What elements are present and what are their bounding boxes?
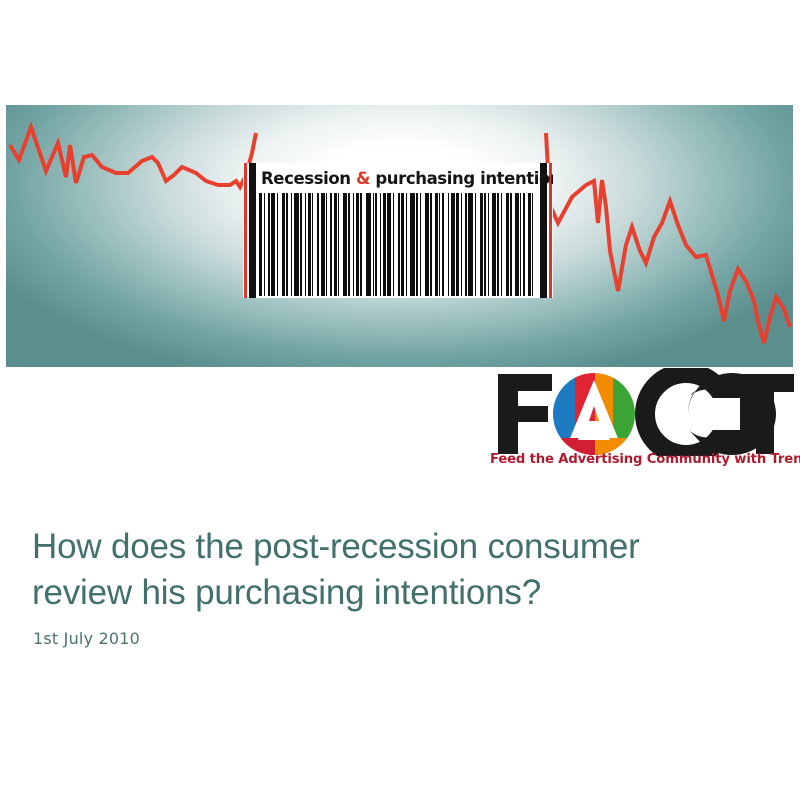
barcode-title-suffix: purchasing intention xyxy=(370,169,553,188)
barcode-bar xyxy=(271,193,275,296)
barcode-title-prefix: Recession xyxy=(261,169,356,188)
barcode-bar xyxy=(532,193,533,296)
barcode-bar xyxy=(259,193,262,296)
barcode-bar xyxy=(312,193,313,296)
barcode-bar xyxy=(456,193,459,296)
barcode-bar xyxy=(291,193,292,296)
page-title-line-1: How does the post-recession consumer xyxy=(32,524,762,570)
barcode-bar xyxy=(360,193,362,296)
barcode-bar xyxy=(380,193,381,296)
barcode-bar xyxy=(488,193,489,296)
barcode-bar xyxy=(398,193,400,296)
barcode-bar xyxy=(305,193,306,296)
barcode-bar xyxy=(528,193,531,296)
trend-line-right xyxy=(546,133,790,343)
barcode-bar xyxy=(451,193,455,296)
barcode-title-ampersand: & xyxy=(356,169,370,188)
barcode-bar xyxy=(506,193,509,296)
page-title-line-2: review his purchasing intentions? xyxy=(32,570,762,616)
barcode-bar xyxy=(308,193,311,296)
barcode-bar xyxy=(393,193,394,296)
barcode-bar xyxy=(410,193,415,296)
barcode-bar xyxy=(461,193,462,296)
fact-letter-a-circle xyxy=(553,373,639,456)
barcode-bar xyxy=(268,193,270,296)
barcode-bar xyxy=(277,193,278,296)
barcode-bar xyxy=(468,193,473,296)
barcode-bars xyxy=(259,193,537,296)
barcode-bar xyxy=(373,193,374,296)
barcode-bar xyxy=(383,193,386,296)
page-date: 1st July 2010 xyxy=(33,629,140,648)
barcode-bar xyxy=(425,193,429,296)
barcode-title-text: Recession & purchasing intention xyxy=(261,165,535,192)
barcode-bar xyxy=(416,193,418,296)
fact-letter-f xyxy=(498,374,552,454)
barcode-bar xyxy=(294,193,299,296)
barcode-bar xyxy=(442,193,444,296)
barcode-bar xyxy=(387,193,391,296)
barcode-bar xyxy=(515,193,519,296)
fact-logo: Feed the Advertising Community with Tren… xyxy=(490,368,795,478)
barcode-bar xyxy=(430,193,432,296)
barcode-bar xyxy=(420,193,421,296)
barcode-graphic: Recession & purchasing intention xyxy=(243,163,553,298)
barcode-bar xyxy=(321,193,325,296)
barcode-bar xyxy=(480,193,483,296)
barcode-bar xyxy=(338,193,339,296)
barcode-bar xyxy=(286,193,288,296)
barcode-bar xyxy=(435,193,438,296)
trend-line-left xyxy=(10,127,256,187)
barcode-bar xyxy=(343,193,347,296)
barcode-bar xyxy=(492,193,496,296)
barcode-bar xyxy=(375,193,377,296)
barcode-bar xyxy=(520,193,521,296)
barcode-bar xyxy=(366,193,371,296)
barcode-bar xyxy=(282,193,285,296)
fact-wordmark xyxy=(490,368,795,456)
letter-a-lower-knockout xyxy=(578,430,610,440)
barcode-bar xyxy=(523,193,525,296)
barcode-bar xyxy=(334,193,337,296)
barcode-bar xyxy=(484,193,486,296)
barcode-bar xyxy=(475,193,476,296)
barcode-edge-bar-left xyxy=(249,163,256,298)
barcode-bar xyxy=(326,193,327,296)
barcode-bar xyxy=(264,193,265,296)
barcode-bar xyxy=(330,193,332,296)
barcode-bar xyxy=(439,193,440,296)
barcode-bar xyxy=(353,193,354,296)
barcode-bar xyxy=(317,193,319,296)
barcode-bar xyxy=(448,193,449,296)
fact-letter-c-aperture xyxy=(698,398,740,430)
fact-tagline: Feed the Advertising Community with Tren… xyxy=(490,452,795,467)
barcode-bar xyxy=(406,193,407,296)
page-title: How does the post-recession consumer rev… xyxy=(32,524,762,616)
barcode-bar xyxy=(300,193,302,296)
barcode-bar xyxy=(501,193,502,296)
barcode-guard-left xyxy=(244,163,247,298)
barcode-bar xyxy=(401,193,404,296)
barcode-bar xyxy=(348,193,350,296)
barcode-bar xyxy=(356,193,359,296)
barcode-bar xyxy=(510,193,512,296)
barcode-bar xyxy=(465,193,467,296)
barcode-bar xyxy=(497,193,499,296)
slide-root: Recession & purchasing intention xyxy=(0,0,800,800)
